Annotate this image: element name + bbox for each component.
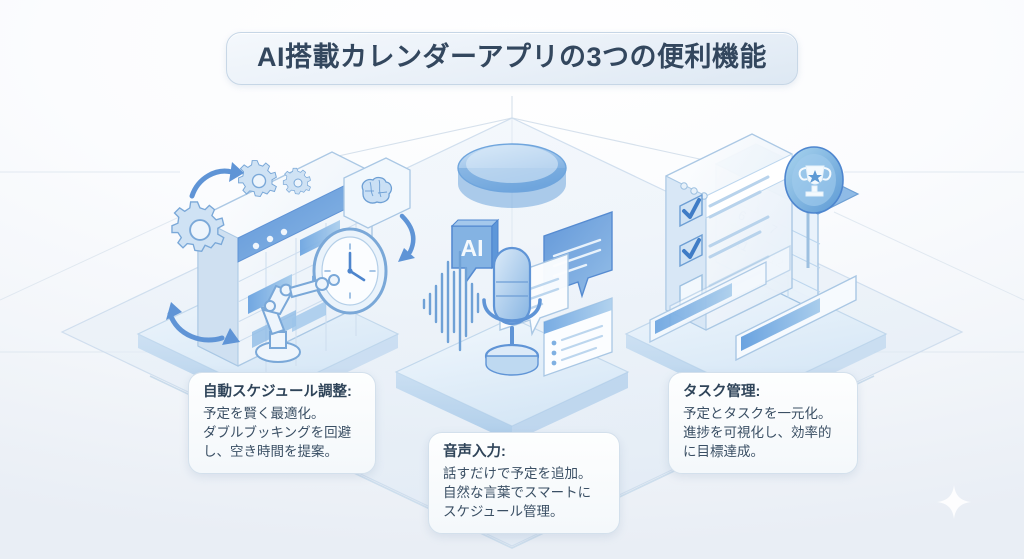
caption-body: 予定とタスクを一元化。 進捗を可視化し、効率的 に目標達成。 bbox=[683, 404, 843, 461]
infographic-canvas: AI bbox=[0, 0, 1024, 559]
page-title-text: AI搭載カレンダーアプリの3つの便利機能 bbox=[257, 44, 767, 71]
sparkle-icon bbox=[937, 485, 971, 519]
page-title: AI搭載カレンダーアプリの3つの便利機能 bbox=[226, 32, 798, 85]
caption-body: 話すだけで予定を追加。 自然な言葉でスマートに スケジュール管理。 bbox=[443, 464, 605, 521]
caption-card-auto-schedule: 自動スケジュール調整: 予定を賢く最適化。 ダブルブッキングを回避 し、空き時間… bbox=[188, 372, 376, 474]
caption-heading: 自動スケジュール調整: bbox=[203, 383, 361, 403]
clock-icon bbox=[314, 229, 386, 313]
caption-card-voice-input: 音声入力: 話すだけで予定を追加。 自然な言葉でスマートに スケジュール管理。 bbox=[428, 432, 620, 534]
caption-heading: タスク管理: bbox=[683, 383, 843, 403]
ai-badge-label: AI bbox=[461, 235, 484, 261]
disc-icon bbox=[458, 144, 566, 208]
caption-body: 予定を賢く最適化。 ダブルブッキングを回避 し、空き時間を提案。 bbox=[203, 404, 361, 461]
caption-card-task-management: タスク管理: 予定とタスクを一元化。 進捗を可視化し、効率的 に目標達成。 bbox=[668, 372, 858, 474]
caption-heading: 音声入力: bbox=[443, 443, 605, 463]
